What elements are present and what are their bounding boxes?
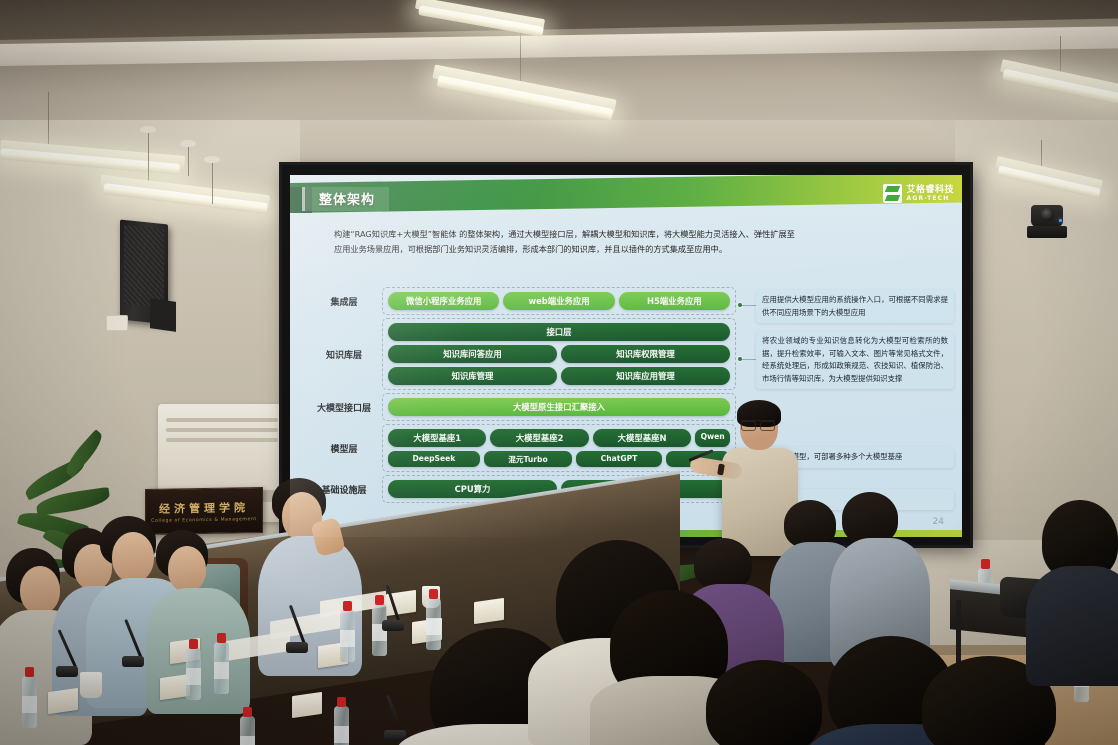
- attendee-hair: [694, 538, 752, 590]
- speaker-grille: [124, 225, 164, 308]
- callout-integration: 应用提供大模型应用的系统操作入口，可根据不同需求提供不同应用场景下的大模型应用: [756, 290, 954, 323]
- chip-native-interface-aggregation[interactable]: 大模型原生接口汇聚接入: [388, 398, 730, 416]
- layer-group-model-interface: 大模型原生接口汇聚接入: [382, 393, 736, 421]
- name-card: [292, 692, 322, 718]
- water-bottle: [334, 706, 349, 745]
- chip-interface-layer[interactable]: 接口层: [388, 323, 730, 341]
- chip-kb-permission-mgmt[interactable]: 知识库权限管理: [561, 345, 730, 363]
- logo-text: 艾格睿科技 AGR-TECH: [906, 186, 954, 202]
- light-cup: [204, 156, 220, 163]
- water-bottle: [340, 610, 355, 662]
- water-bottle: [22, 676, 37, 728]
- layer-label-model-interface: 大模型接口层: [306, 401, 382, 414]
- callout-knowledge-base: 将农业领域的专业知识信息转化为大模型可检索所的数据，提升检索效率，可输入文本、图…: [756, 331, 954, 389]
- intro-line-1: 构建“RAG知识库+大模型”智能体 的整体架构，通过大模型接口层，解耦大模型和知…: [334, 227, 934, 242]
- camera-base: [1027, 226, 1067, 238]
- logo-chinese: 艾格睿科技: [906, 186, 954, 195]
- slide-header-bar: [290, 175, 962, 213]
- ac-vent: [166, 428, 278, 432]
- slide-intro-paragraph: 构建“RAG知识库+大模型”智能体 的整体架构，通过大模型接口层，解耦大模型和知…: [334, 227, 934, 257]
- layer-label-knowledge-base: 知识库层: [306, 348, 382, 361]
- bottle-label: [334, 726, 349, 743]
- bottle-label: [240, 736, 255, 745]
- slide-title: 整体架构: [302, 187, 389, 211]
- water-bottle: [186, 648, 201, 700]
- chip-model-base-n[interactable]: 大模型基座N: [593, 429, 691, 447]
- light-cord: [148, 128, 149, 188]
- plaque-chinese-text: 经济管理学院: [159, 499, 249, 517]
- logo-english: AGR-TECH: [906, 196, 954, 202]
- chip-qwen[interactable]: Qwen: [695, 429, 730, 447]
- microphone-base: [384, 730, 406, 741]
- attendee-shoulders: [1026, 566, 1118, 686]
- chip-kb-qa-app[interactable]: 知识库问答应用: [388, 345, 557, 363]
- company-logo: 艾格睿科技 AGR-TECH: [883, 184, 954, 203]
- logo-mark-icon: [883, 184, 902, 203]
- camera-lens-icon: [1041, 208, 1054, 221]
- bottle-label: [22, 696, 37, 713]
- chip-kb-management[interactable]: 知识库管理: [388, 367, 557, 385]
- conference-room-scene: 整体架构 艾格睿科技 AGR-TECH 构建“RAG知识库+大模型”智能体 的整…: [0, 0, 1118, 745]
- power-outlet: [106, 315, 128, 331]
- chip-model-base-1[interactable]: 大模型基座1: [388, 429, 486, 447]
- leaf: [61, 429, 107, 478]
- attendee-hair: [784, 500, 836, 548]
- layer-group-model: 大模型基座1 大模型基座2 大模型基座N Qwen DeepSeek 混元Tur…: [382, 424, 736, 472]
- connector-line-knowledge: [742, 359, 756, 360]
- attendee-head: [112, 532, 154, 582]
- water-bottle: [426, 598, 441, 650]
- microphone-base: [382, 620, 404, 631]
- connector-line-integration: [742, 305, 756, 306]
- presenter-glasses-icon: [741, 420, 775, 428]
- microphone-base: [286, 642, 308, 653]
- paper-cup: [80, 672, 102, 698]
- chip-hunyuan-turbo[interactable]: 混元Turbo: [484, 451, 572, 467]
- bottle-label: [186, 668, 201, 685]
- speaker-mount-bracket: [150, 298, 176, 332]
- bottle-label: [426, 618, 441, 635]
- light-cord: [520, 30, 521, 85]
- layer-label-integration: 集成层: [306, 295, 382, 308]
- chip-kb-app-management[interactable]: 知识库应用管理: [561, 367, 730, 385]
- layer-row-knowledge-base: 知识库层 接口层 知识库问答应用 知识库权限管理 知识库管理 知识库应用管理: [306, 318, 736, 390]
- name-card: [474, 598, 504, 624]
- light-cord: [48, 92, 49, 152]
- ac-vent: [166, 418, 278, 422]
- light-cord: [212, 158, 213, 204]
- wall-plaque: 经济管理学院 College of Economics & Management: [145, 487, 263, 535]
- chip-wechat-miniprogram-app[interactable]: 微信小程序业务应用: [388, 292, 499, 310]
- bottle-label: [340, 630, 355, 647]
- layer-row-model: 模型层 大模型基座1 大模型基座2 大模型基座N Qwen DeepSeek 混…: [306, 424, 736, 472]
- layer-row-integration: 集成层 微信小程序业务应用 web端业务应用 H5端业务应用: [306, 287, 736, 315]
- plaque-english-text: College of Economics & Management: [151, 517, 257, 524]
- attendee-head: [20, 566, 60, 614]
- light-cup: [140, 126, 156, 133]
- camera-status-led: [1059, 219, 1062, 222]
- water-bottle: [214, 642, 229, 694]
- microphone-base: [122, 656, 144, 667]
- bottle-label: [214, 662, 229, 679]
- chip-chatgpt[interactable]: ChatGPT: [576, 451, 662, 467]
- light-cup: [180, 140, 196, 147]
- water-bottle: [240, 716, 255, 745]
- name-card: [48, 688, 78, 714]
- slide-page-number: 24: [933, 517, 944, 527]
- chip-h5-app[interactable]: H5端业务应用: [619, 292, 730, 310]
- layer-group-knowledge-base: 接口层 知识库问答应用 知识库权限管理 知识库管理 知识库应用管理: [382, 318, 736, 390]
- layer-group-integration: 微信小程序业务应用 web端业务应用 H5端业务应用: [382, 287, 736, 315]
- microphone-base: [56, 666, 78, 677]
- attendee-head: [168, 546, 206, 592]
- layer-row-model-interface: 大模型接口层 大模型原生接口汇聚接入: [306, 393, 736, 421]
- chip-web-app[interactable]: web端业务应用: [503, 292, 614, 310]
- chip-model-base-2[interactable]: 大模型基座2: [490, 429, 588, 447]
- intro-line-2: 应用业务场景应用，可根据部门业务知识灵活编排，形成本部门的知识库，并且以插件的方…: [334, 242, 934, 257]
- ac-vent: [166, 438, 278, 442]
- attendee-hair: [842, 492, 898, 544]
- attendee-hair: [706, 660, 822, 745]
- layer-label-model: 模型层: [306, 442, 382, 455]
- chip-deepseek[interactable]: DeepSeek: [388, 451, 480, 467]
